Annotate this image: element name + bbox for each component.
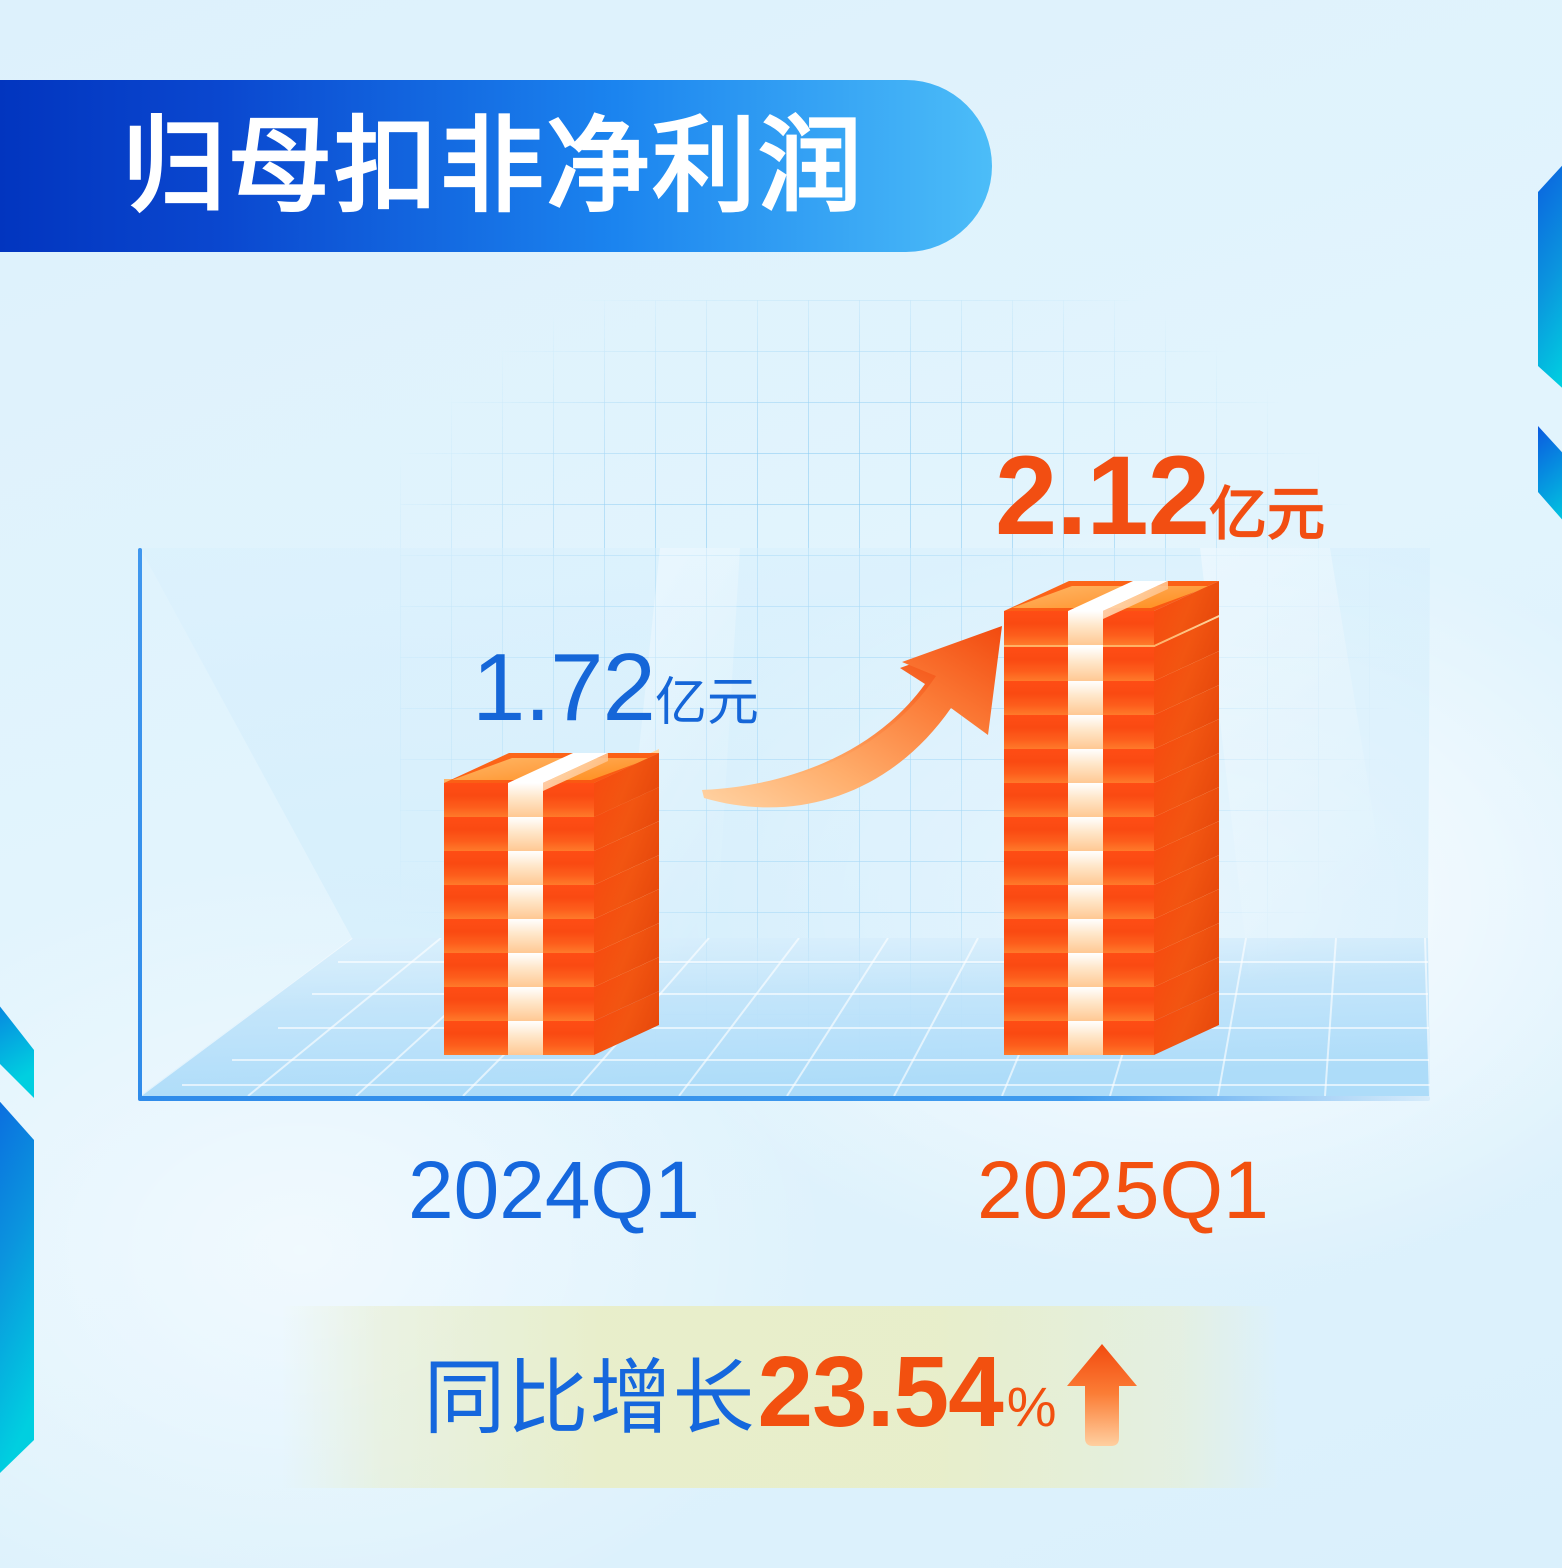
value-label-2024q1: 1.72亿元 [472, 640, 759, 736]
axis-label-2024q1: 2024Q1 [408, 1150, 700, 1232]
left-chevron-decoration [0, 950, 48, 1510]
growth-value: 23.54 [757, 1342, 1002, 1442]
value-label-2025q1: 2.12亿元 [995, 440, 1325, 552]
value-unit-2025q1: 亿元 [1209, 482, 1325, 547]
title-banner: 归母扣非净利润 [0, 80, 992, 252]
right-chevron-decoration [1520, 140, 1562, 540]
axis-label-2025q1: 2025Q1 [977, 1150, 1269, 1232]
value-unit-2024q1: 亿元 [655, 674, 759, 732]
infographic-canvas: 归母扣非净利润 [0, 0, 1562, 1568]
up-arrow-icon [1065, 1342, 1139, 1452]
value-number-2024q1: 1.72 [472, 634, 655, 741]
value-number-2025q1: 2.12 [995, 433, 1209, 558]
growth-row: 同比增长 23.54 % [423, 1342, 1138, 1452]
axis-vertical-line [138, 548, 142, 1100]
axis-horizontal-line [138, 1096, 1430, 1101]
growth-banner: 同比增长 23.54 % [282, 1306, 1280, 1488]
page-title: 归母扣非净利润 [122, 114, 864, 218]
growth-prefix-label: 同比增长 [423, 1358, 755, 1440]
growth-percent-sign: % [1007, 1379, 1057, 1435]
